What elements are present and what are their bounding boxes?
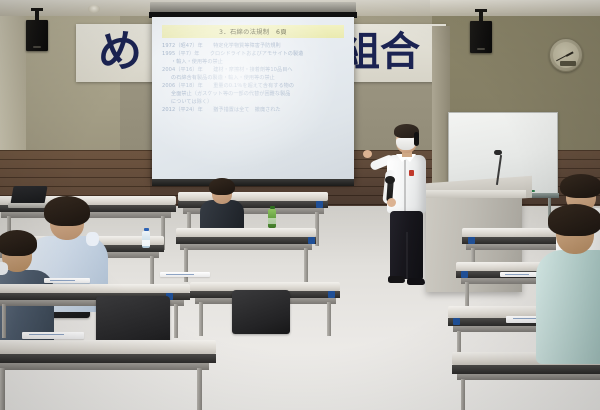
paper-line (29, 334, 63, 335)
clock-hour-hand (566, 51, 574, 56)
table-leg (0, 368, 5, 410)
table-leg (199, 302, 203, 336)
table-clip (461, 271, 468, 278)
presenter-badge (409, 170, 414, 176)
table-leg (461, 379, 465, 410)
bottle-label (142, 240, 150, 246)
slide-line: 1995（平7）年 クロシドライトおよびアモサイトの製造 (162, 51, 344, 59)
presenter-mic-hand (387, 198, 396, 207)
chair-front-center (232, 290, 290, 334)
ceiling-speaker-left-icon (26, 8, 48, 51)
slide-line: 全面禁止（ガスケット等の一部の代替が困難な製品 (162, 91, 344, 99)
table-clip (453, 318, 460, 325)
table-leg (2, 304, 6, 338)
speaker-body (470, 21, 492, 53)
table-apron (457, 374, 600, 380)
handout-paper (22, 332, 84, 339)
table-apron (180, 244, 312, 250)
ceiling-light (88, 5, 100, 13)
slide-line: 2012（平24）年 猶予措置は全て 撤廃された (162, 107, 344, 115)
speaker-body (26, 20, 48, 51)
table-clip (328, 291, 335, 298)
table-apron (0, 363, 209, 370)
banner-char-left: め (98, 30, 142, 74)
bottle-green (268, 206, 276, 226)
attendee-hair (44, 196, 90, 226)
presenter (374, 122, 440, 290)
table-leg (304, 248, 308, 282)
mic-head-icon (494, 150, 502, 155)
slide-title: 3．石綿の法規制 6頁 (162, 25, 344, 38)
slide-line: ・輸入・使用等の禁止 (162, 59, 344, 67)
table-clip (316, 201, 323, 208)
slide-line: 2006（平18）年 重量の0.1％を超えて含有する物の (162, 83, 344, 91)
attendee-mask-strap (86, 232, 99, 246)
bottle-clear-left (142, 228, 150, 246)
clock-date-window (560, 61, 576, 66)
bottle-label (268, 218, 276, 224)
handout-paper (160, 272, 210, 277)
presenter-headset-icon (414, 132, 419, 146)
table-edge (176, 237, 316, 244)
screen-bottom-bar (152, 179, 354, 186)
presenter-shoe-left (388, 276, 405, 283)
table-leg (174, 304, 178, 338)
table-edge (452, 365, 600, 374)
presenter-face-mask (396, 138, 416, 150)
paper-line (166, 274, 194, 275)
attendee-hair (0, 230, 37, 256)
handout-paper (44, 278, 90, 283)
slide-content: 3．石綿の法規制 6頁 1972（昭47）年 特定化学物質等障害予防規則 199… (162, 25, 344, 173)
banner-char-right-2: 合 (380, 32, 420, 72)
table-edge (0, 354, 216, 363)
attendee-hair (209, 178, 235, 195)
seminar-room-photo: め 組 合 3．石綿の法規制 6頁 197 (0, 0, 600, 410)
microphone-head-icon (385, 176, 395, 184)
attendee-torso (536, 250, 600, 364)
slide-body: 1972（昭47）年 特定化学物質等障害予防規則 1995（平7）年 クロシドラ… (162, 43, 344, 114)
slide-line: 2004（平16）年 建材・摩擦材・接着剤等10品目へ (162, 67, 344, 75)
table-top (0, 284, 190, 293)
attendee-hair (548, 204, 600, 236)
table-clip (308, 237, 315, 244)
table-leg (327, 302, 331, 336)
presenter-shoe-right (407, 278, 425, 285)
table-top (176, 228, 316, 237)
attendee-hair (560, 174, 600, 198)
projection-screen: 3．石綿の法規制 6頁 1972（昭47）年 特定化学物質等障害予防規則 199… (152, 17, 354, 182)
slide-line: の石綿含有製品の製造・輸入・使用等の禁止 (162, 75, 344, 83)
clock-face (553, 42, 579, 68)
slide-line: については除く） (162, 99, 344, 107)
ceiling-right-section (430, 0, 600, 13)
paper-line (50, 280, 75, 281)
presenter-trouser-seam (406, 232, 408, 279)
presenter-pointing-hand (363, 150, 372, 158)
wall-clock-icon (549, 38, 583, 72)
presenter-shirt-placket (404, 160, 406, 212)
paper-line (505, 274, 529, 275)
table-leg (197, 368, 202, 410)
table-top (0, 340, 216, 354)
attendee-right-mint (536, 204, 600, 364)
table-clip (468, 237, 475, 244)
ceiling-speaker-right-icon (470, 9, 492, 53)
